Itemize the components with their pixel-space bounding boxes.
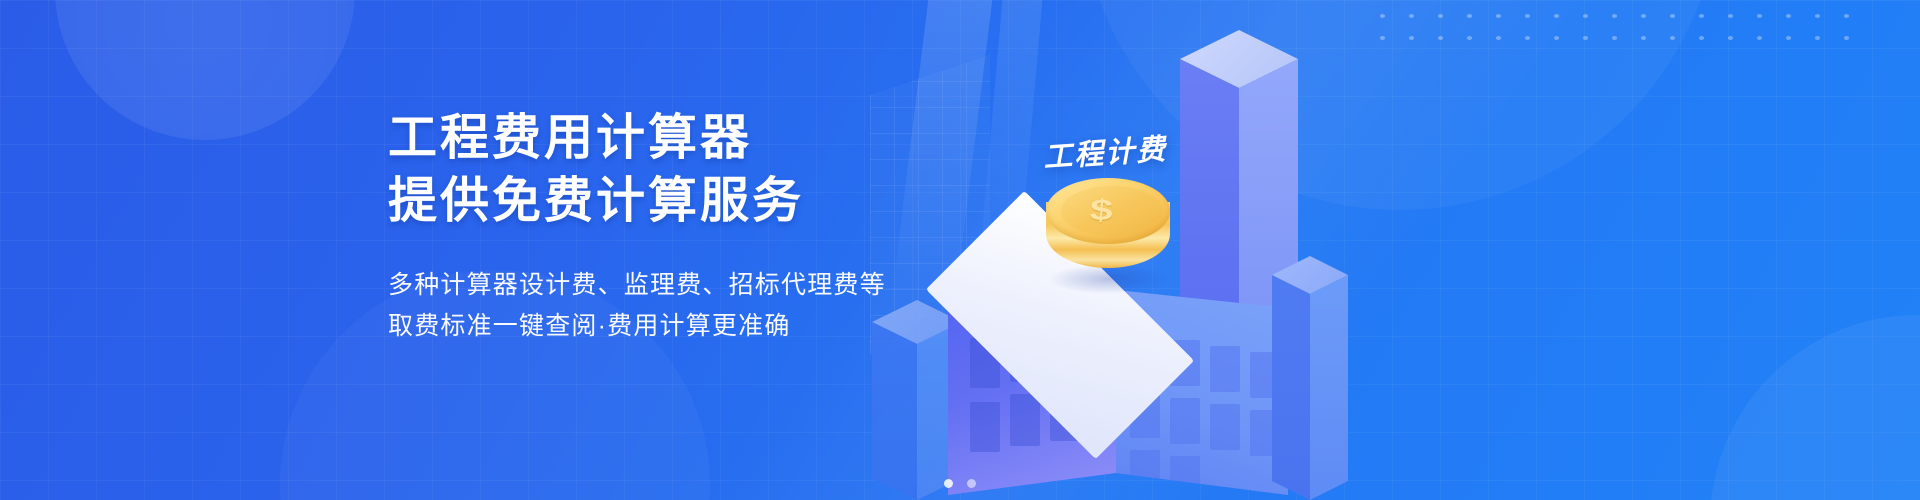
dollar-sign-icon: $	[1089, 194, 1114, 226]
illustration-tag-label: 工程计费	[1042, 126, 1169, 177]
tower-left-side-face	[872, 322, 917, 500]
tower-right-front-face	[1310, 275, 1348, 500]
decorative-circle-bottom-right	[1710, 315, 1920, 500]
gold-coin-icon: $	[1042, 178, 1174, 296]
promo-banner: 工程费用计算器 提供免费计算服务 多种计算器设计费、监理费、招标代理费等 取费标…	[0, 0, 1920, 500]
building-window	[1130, 450, 1160, 492]
building-window	[970, 402, 1000, 452]
coin-shadow	[1048, 264, 1170, 294]
carousel-dot-1[interactable]	[944, 479, 953, 488]
building-window	[1170, 398, 1200, 444]
carousel-dot-2[interactable]	[967, 479, 976, 488]
decorative-circle-top-left	[55, 0, 355, 140]
carousel-dots[interactable]	[944, 479, 976, 488]
background-tower-right	[1272, 256, 1348, 500]
coin-top-face: $	[1046, 178, 1170, 244]
building-window	[1010, 394, 1040, 446]
building-window	[1170, 456, 1200, 496]
banner-illustration: 工程计费	[880, 0, 1640, 500]
building-window	[1210, 404, 1240, 450]
